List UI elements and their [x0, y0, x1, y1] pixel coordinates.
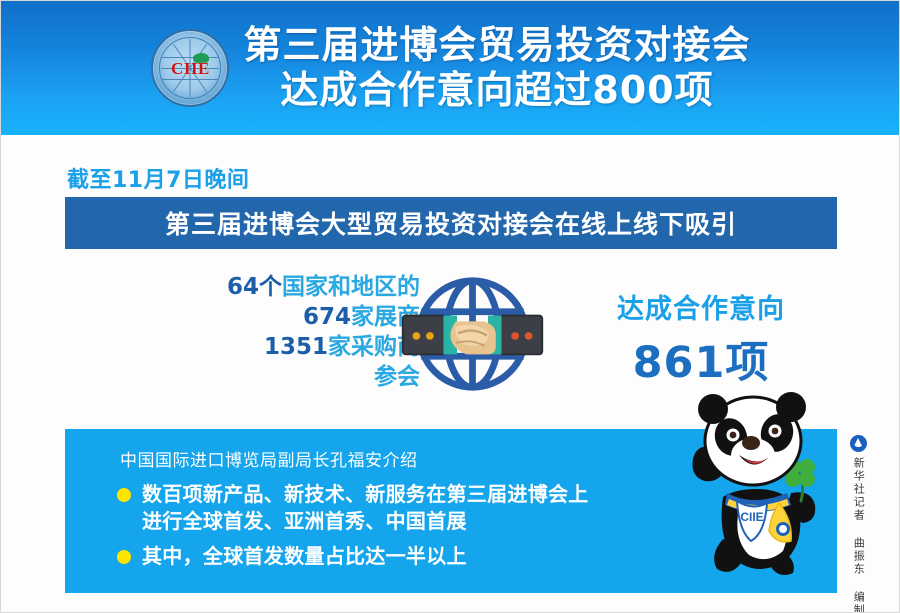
highlight-banner: 第三届进博会大型贸易投资对接会在线上线下吸引 [65, 197, 837, 249]
header-inner: CIIE 第三届进博会贸易投资对接会 达成合作意向超过800项 [151, 25, 750, 111]
stat-row: 64个国家和地区的 [135, 273, 420, 303]
note-bullet-text: 其中，全球首发数量占比达一半以上 [142, 543, 467, 570]
stat-row: 674家展商 [135, 303, 420, 333]
stat-row: 1351家采购商 [135, 333, 420, 363]
stats-row: 64个国家和地区的674家展商1351家采购商参会 [65, 269, 837, 414]
stat-unit: 个 [259, 274, 282, 300]
globe-handshake-icon [395, 273, 550, 395]
ciie-logo-latitude-3 [161, 79, 219, 80]
poster-title-line-1: 第三届进博会贸易投资对接会 [243, 25, 750, 66]
stats-left-list: 64个国家和地区的674家展商1351家采购商参会 [135, 273, 420, 393]
highlight-banner-text: 第三届进博会大型贸易投资对接会在线上线下吸引 [165, 205, 737, 241]
agreements-value: 861项 [565, 328, 837, 390]
infographic-poster: CIIE 第三届进博会贸易投资对接会 达成合作意向超过800项 截至11月7日晚… [0, 0, 900, 613]
note-bullet-list: 数百项新产品、新技术、新服务在第三届进博会上进行全球首发、亚洲首秀、中国首展其中… [117, 481, 697, 579]
ciie-logo-latitude-1 [161, 57, 219, 58]
xinhua-logo-icon [850, 435, 867, 452]
bullet-dot-icon [117, 550, 131, 564]
note-box: 中国国际进口博览局副局长孔福安介绍 数百项新产品、新技术、新服务在第三届进博会上… [65, 429, 837, 593]
credit-block: 新华社记者 曲振东 编制 [841, 435, 875, 613]
stat-number: 1351 [264, 334, 328, 360]
note-intro-text: 中国国际进口博览局副局长孔福安介绍 [120, 446, 418, 471]
note-bullet-item: 数百项新产品、新技术、新服务在第三届进博会上进行全球首发、亚洲首秀、中国首展 [117, 481, 697, 534]
poster-title-line-2: 达成合作意向超过800项 [280, 70, 713, 111]
stats-right-block: 达成合作意向 861项 [565, 287, 837, 390]
ciie-logo-label: CIIE [153, 59, 227, 79]
agreements-label: 达成合作意向 [565, 287, 837, 326]
stat-row: 参会 [135, 363, 420, 393]
header-title-group: 第三届进博会贸易投资对接会 达成合作意向超过800项 [243, 25, 750, 111]
credit-text: 新华社记者 曲振东 编制 [850, 457, 867, 613]
ciie-logo-icon: CIIE [151, 29, 229, 107]
note-bullet-text: 数百项新产品、新技术、新服务在第三届进博会上进行全球首发、亚洲首秀、中国首展 [142, 481, 589, 534]
poster-header: CIIE 第三届进博会贸易投资对接会 达成合作意向超过800项 [1, 1, 900, 135]
as-of-label: 截至11月7日晚间 [67, 162, 249, 194]
stat-number: 674 [303, 304, 351, 330]
bullet-dot-icon [117, 488, 131, 502]
stat-number: 64 [227, 274, 259, 300]
note-bullet-item: 其中，全球首发数量占比达一半以上 [117, 543, 697, 570]
